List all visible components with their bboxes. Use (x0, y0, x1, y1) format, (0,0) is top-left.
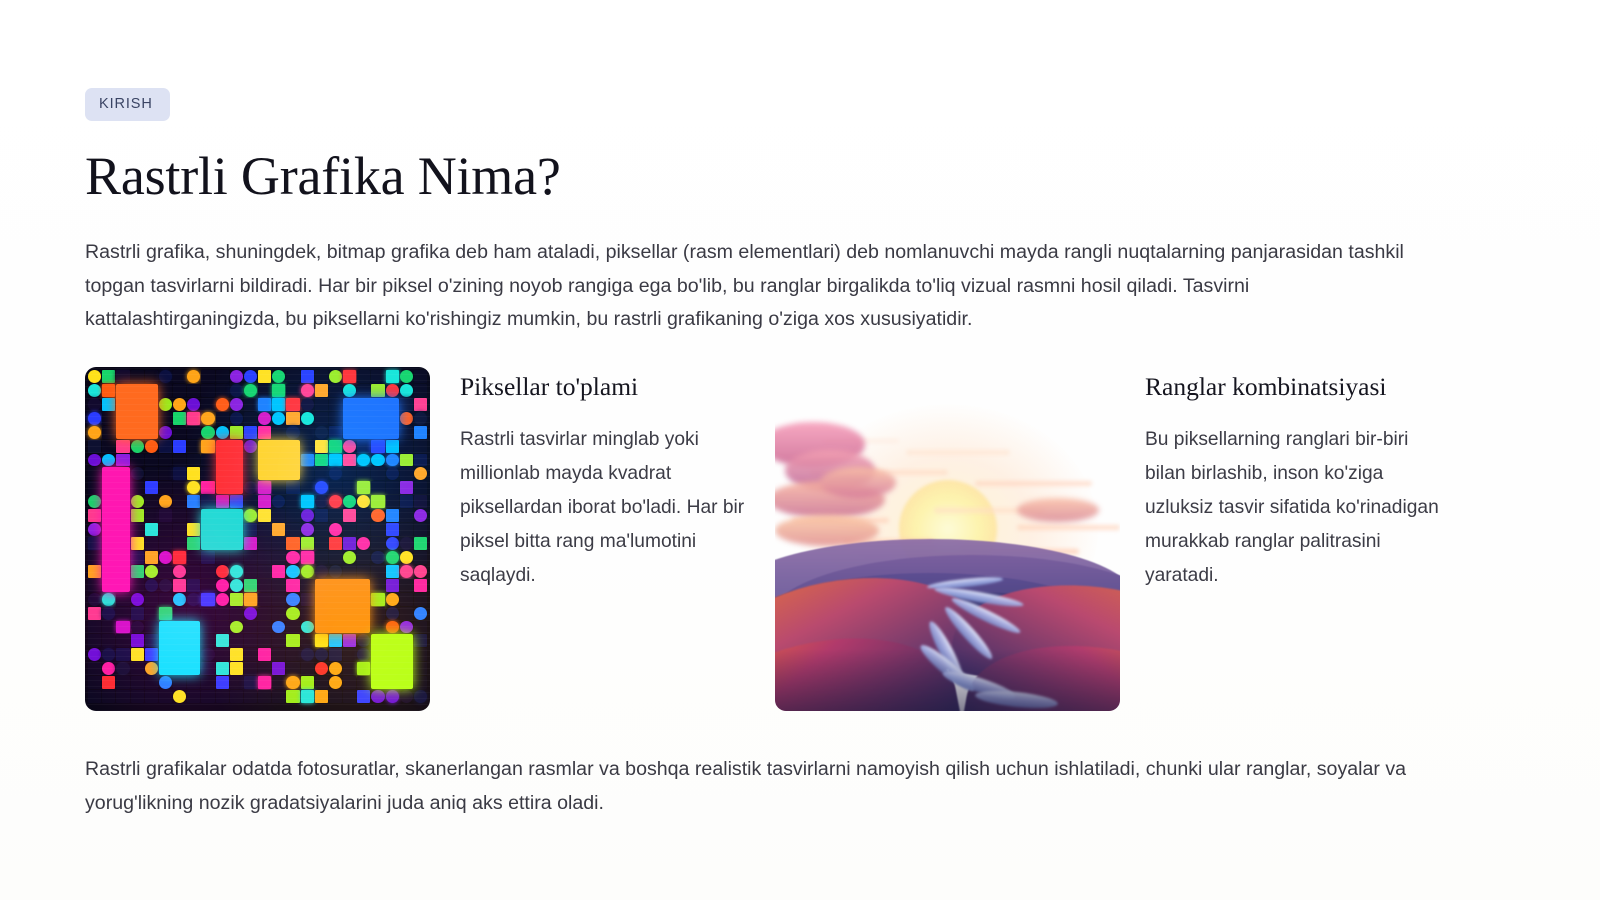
neon-pixel-mosaic-image (85, 367, 430, 711)
pixel-art-canvas (85, 367, 430, 711)
feature-grid: Piksellar to'plami Rastrli tasvirlar min… (85, 367, 1465, 711)
content-column: KIRISH Rastrli Grafika Nima? Rastrli gra… (85, 88, 1465, 820)
feature-title-1: Ranglar kombinatsiyasi (1145, 372, 1443, 403)
intro-paragraph: Rastrli grafika, shuningdek, bitmap graf… (85, 236, 1435, 337)
page-root: KIRISH Rastrli Grafika Nima? Rastrli gra… (0, 0, 1600, 900)
feature-text-0: Piksellar to'plami Rastrli tasvirlar min… (430, 367, 775, 593)
landscape-canvas (775, 367, 1120, 711)
pixel-grid (85, 367, 430, 711)
page-title: Rastrli Grafika Nima? (85, 146, 1465, 206)
sunset-river-valley-image (775, 367, 1120, 711)
feature-title-0: Piksellar to'plami (460, 372, 753, 403)
outro-paragraph: Rastrli grafikalar odatda fotosuratlar, … (85, 753, 1445, 820)
section-badge: KIRISH (85, 88, 170, 121)
feature-body-0: Rastrli tasvirlar minglab yoki millionla… (460, 423, 753, 594)
feature-body-1: Bu piksellarning ranglari bir-biri bilan… (1145, 423, 1443, 594)
feature-text-1: Ranglar kombinatsiyasi Bu piksellarning … (1120, 367, 1465, 593)
